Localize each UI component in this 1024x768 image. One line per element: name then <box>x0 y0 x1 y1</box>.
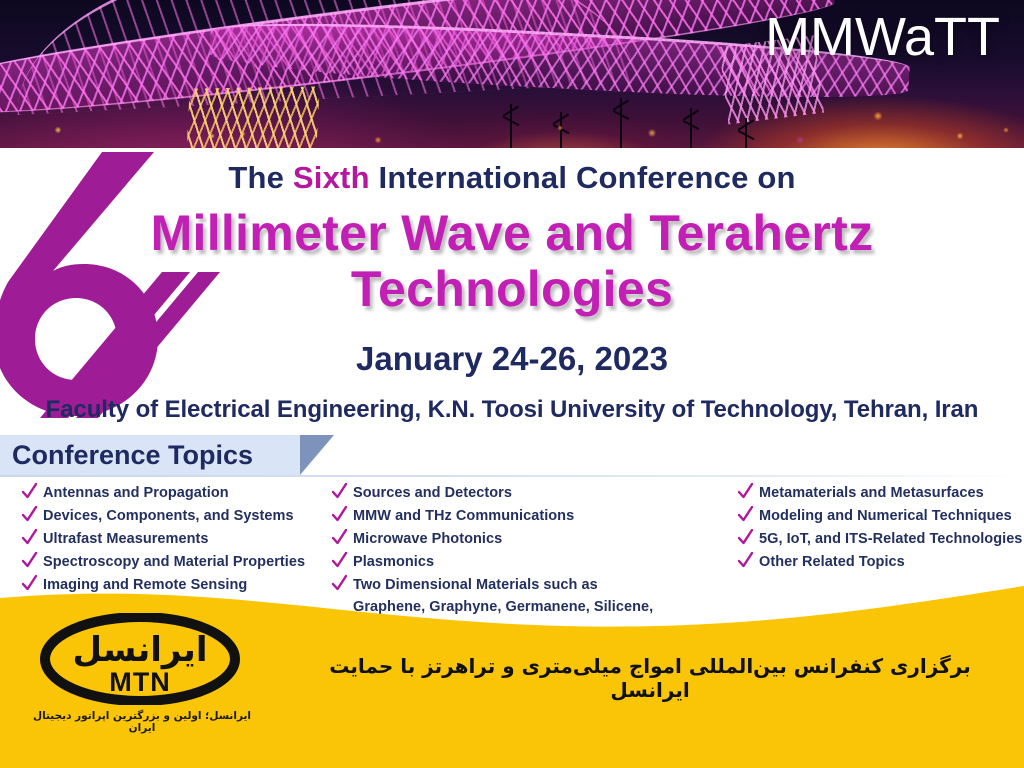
conference-dates: January 24-26, 2023 <box>0 340 1024 378</box>
topic-label: Spectroscopy and Material Properties <box>43 551 305 573</box>
conference-edition-line: The Sixth International Conference on <box>0 160 1024 196</box>
check-icon <box>332 529 347 547</box>
topic-label: Other Related Topics <box>759 551 905 573</box>
sponsor-band: ایرانسل MTN ایرانسل؛ اولین و بزرگترین اپ… <box>0 580 1024 768</box>
topic-item: MMW and THz Communications <box>332 505 732 527</box>
topic-item: Metamaterials and Metasurfaces <box>738 482 1024 504</box>
topic-item: Ultrafast Measurements <box>22 528 342 550</box>
topic-label: MMW and THz Communications <box>353 505 574 527</box>
topic-item: 5G, IoT, and ITS-Related Technologies <box>738 528 1024 550</box>
sponsor-band-content: ایرانسل MTN ایرانسل؛ اولین و بزرگترین اپ… <box>0 580 1024 768</box>
topic-item: Other Related Topics <box>738 551 1024 573</box>
title-line-1: Millimeter Wave and Terahertz <box>151 205 874 261</box>
topic-item: Modeling and Numerical Techniques <box>738 505 1024 527</box>
check-icon <box>332 552 347 570</box>
check-icon <box>22 483 37 501</box>
topic-label: Metamaterials and Metasurfaces <box>759 482 984 504</box>
conference-poster: MMWaTT The Sixth International Conferenc… <box>0 0 1024 768</box>
check-icon <box>738 529 753 547</box>
topic-label: Sources and Detectors <box>353 482 512 504</box>
check-icon <box>738 506 753 524</box>
topic-label: Plasmonics <box>353 551 434 573</box>
title-line-2: Technologies <box>0 261 1024 317</box>
topic-label: Ultrafast Measurements <box>43 528 209 550</box>
topic-item: Spectroscopy and Material Properties <box>22 551 342 573</box>
topic-item: Microwave Photonics <box>332 528 732 550</box>
topic-label: Devices, Components, and Systems <box>43 505 294 527</box>
topic-item: Antennas and Propagation <box>22 482 342 504</box>
banner-underline <box>0 475 1024 477</box>
check-icon <box>22 552 37 570</box>
check-icon <box>738 483 753 501</box>
svg-text:MTN: MTN <box>109 667 170 697</box>
header-photo-band: MMWaTT <box>0 0 1024 148</box>
topic-label: 5G, IoT, and ITS-Related Technologies <box>759 528 1022 550</box>
check-icon <box>738 552 753 570</box>
topic-label: Antennas and Propagation <box>43 482 229 504</box>
sponsor-logo-tagline: ایرانسل؛ اولین و بزرگترین اپراتور دیجیتا… <box>22 710 262 734</box>
city-lights <box>0 100 1024 148</box>
topic-item: Plasmonics <box>332 551 732 573</box>
edition-ordinal: Sixth <box>293 160 370 195</box>
svg-text:ایرانسل: ایرانسل <box>73 630 208 670</box>
topic-label: Microwave Photonics <box>353 528 502 550</box>
irancell-mtn-logo: ایرانسل MTN <box>38 613 243 705</box>
sponsor-persian-statement: برگزاری کنفرانس بین‌المللی امواج میلی‌مت… <box>300 654 1000 702</box>
banner-arrow-shape <box>300 435 334 475</box>
conference-venue: Faculty of Electrical Engineering, K.N. … <box>0 396 1024 424</box>
check-icon <box>22 506 37 524</box>
topic-label: Modeling and Numerical Techniques <box>759 505 1012 527</box>
conference-acronym: MMWaTT <box>765 6 1000 68</box>
edition-suffix: International Conference on <box>370 160 796 195</box>
conference-topics-label: Conference Topics <box>12 440 253 471</box>
topic-item: Devices, Components, and Systems <box>22 505 342 527</box>
topic-item: Sources and Detectors <box>332 482 732 504</box>
edition-prefix: The <box>228 160 293 195</box>
conference-topics-banner: Conference Topics <box>0 435 300 475</box>
check-icon <box>22 529 37 547</box>
check-icon <box>332 506 347 524</box>
topics-column-3: Metamaterials and Metasurfaces Modeling … <box>738 482 1024 574</box>
check-icon <box>332 483 347 501</box>
conference-main-title: Millimeter Wave and Terahertz Technologi… <box>0 205 1024 317</box>
